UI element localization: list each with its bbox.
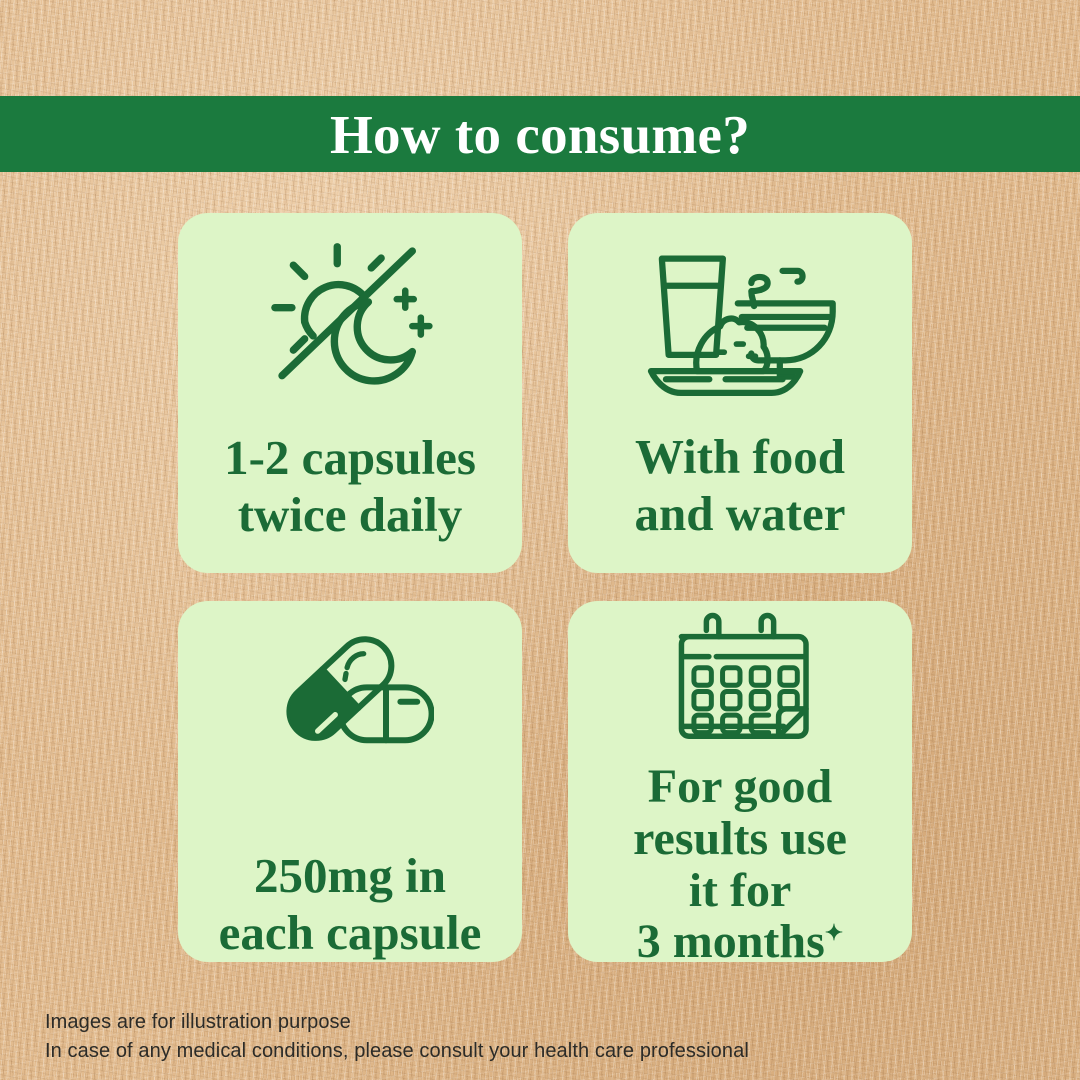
card-duration-label: For good results use it for 3 months✦ <box>623 761 857 962</box>
card-duration: For good results use it for 3 months✦ <box>568 601 912 962</box>
footer-line-illustration: Images are for illustration purpose <box>45 1008 749 1037</box>
sun-moon-icon <box>178 231 522 406</box>
card-dosage-label: 1-2 capsules twice daily <box>214 430 486 544</box>
card-strength: 250mg in each capsule <box>178 601 522 962</box>
card-dosage: 1-2 capsules twice daily <box>178 213 522 573</box>
header-banner: How to consume? <box>0 96 1080 172</box>
card-strength-label: 250mg in each capsule <box>209 848 492 962</box>
food-and-water-icon <box>568 237 912 405</box>
footer-line-medical: In case of any medical conditions, pleas… <box>45 1037 749 1066</box>
card-with-food: With food and water <box>568 213 912 573</box>
footer-disclaimer: Images are for illustration purpose In c… <box>45 1008 749 1066</box>
calendar-icon <box>568 609 912 749</box>
capsules-icon <box>178 611 522 770</box>
card-with-food-label: With food and water <box>625 429 856 543</box>
info-card-grid: 1-2 capsules twice daily <box>178 213 912 962</box>
page-title: How to consume? <box>330 107 750 162</box>
sparkle-asterisk-icon: ✦ <box>825 920 843 945</box>
card-duration-text: For good results use it for 3 months <box>633 760 847 962</box>
